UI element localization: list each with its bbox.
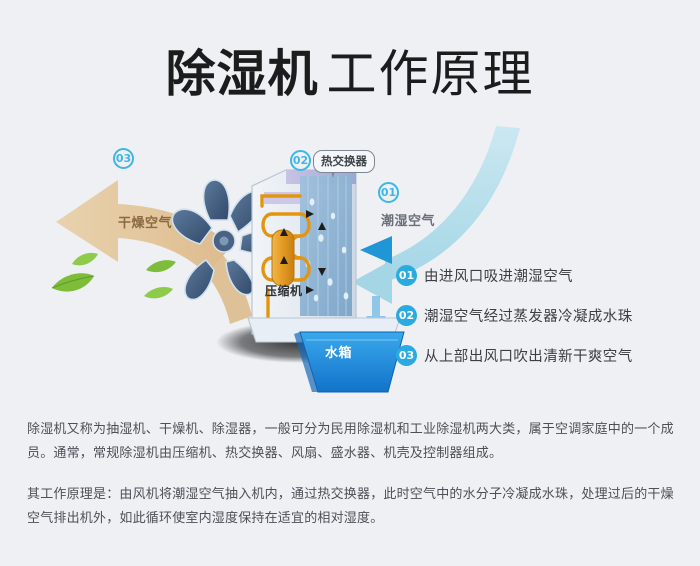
- description-paragraph-2: 其工作原理是：由风机将潮湿空气抽入机内，通过热交换器，此时空气中的水分子冷凝成水…: [27, 483, 679, 531]
- diagram-badge-01: 01: [378, 182, 399, 203]
- legend-text-02: 潮湿空气经过蒸发器冷凝成水珠: [424, 305, 633, 326]
- legend-item: 03 从上部出风口吹出清新干爽空气: [396, 335, 686, 375]
- legend-badge-02: 02: [396, 305, 417, 326]
- title-part-primary: 除湿机: [166, 45, 319, 103]
- diagram-badge-03: 03: [113, 148, 134, 169]
- heat-exchanger-callout: 热交换器: [313, 150, 375, 173]
- page-title: 除湿机工作原理: [0, 34, 700, 106]
- leaf-icon-group: [52, 253, 176, 299]
- compressor-label: 压缩机: [265, 282, 303, 299]
- legend-text-03: 从上部出风口吹出清新干爽空气: [424, 345, 633, 366]
- legend-badge-01: 01: [396, 265, 417, 286]
- legend-item: 02 潮湿空气经过蒸发器冷凝成水珠: [396, 295, 686, 335]
- dry-air-label: 干燥空气: [118, 212, 172, 231]
- water-tank: [294, 332, 404, 392]
- legend-text-01: 由进风口吸进潮湿空气: [424, 265, 573, 286]
- intake-arrow: [360, 236, 392, 264]
- legend-list: 01 由进风口吸进潮湿空气 02 潮湿空气经过蒸发器冷凝成水珠 03 从上部出风…: [396, 255, 686, 375]
- humid-air-label: 潮湿空气: [381, 210, 435, 229]
- water-tank-label: 水箱: [325, 342, 352, 361]
- infographic-page: 除湿机工作原理: [0, 0, 700, 566]
- diagram-badge-02: 02: [290, 150, 311, 171]
- title-part-secondary: 工作原理: [327, 45, 535, 103]
- legend-item: 01 由进风口吸进潮湿空气: [396, 255, 686, 295]
- machine-body: [248, 170, 400, 342]
- description-block: 除湿机又称为抽湿机、干燥机、除湿器，一般可分为民用除湿机和工业除湿机两大类，属于…: [27, 418, 679, 531]
- description-paragraph-1: 除湿机又称为抽湿机、干燥机、除湿器，一般可分为民用除湿机和工业除湿机两大类，属于…: [27, 418, 679, 466]
- evaporator-block: [300, 176, 352, 316]
- legend-badge-03: 03: [396, 345, 417, 366]
